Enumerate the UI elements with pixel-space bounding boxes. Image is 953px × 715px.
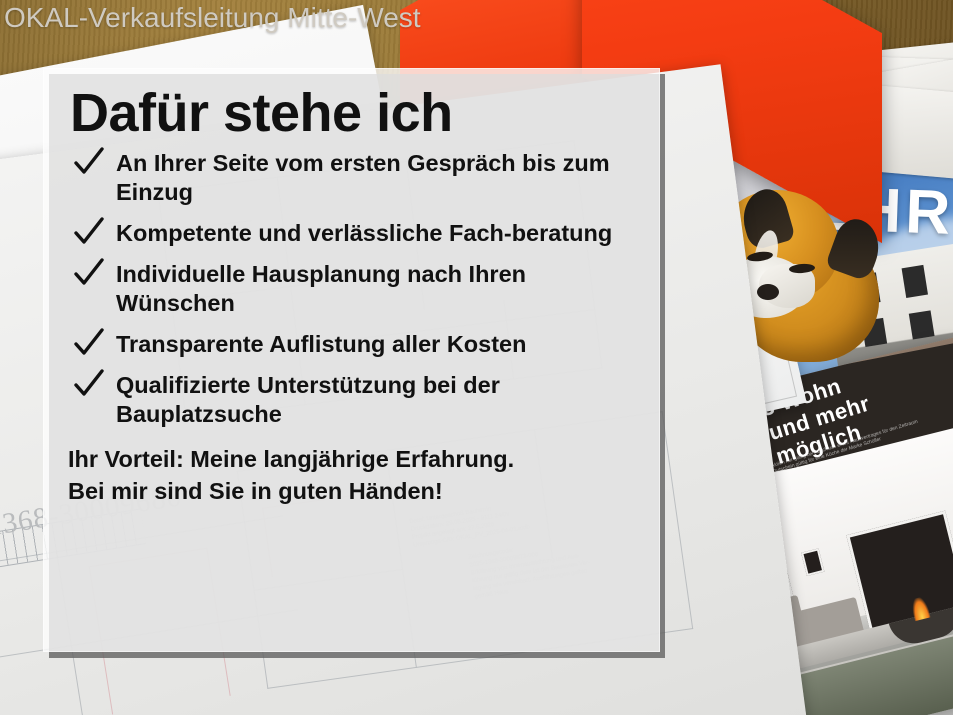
list-item-label: Individuelle Hausplanung nach Ihren Wüns… [116,261,526,316]
panel-headline: Dafür stehe ich [70,83,637,143]
closing-line-1: Ihr Vorteil: Meine langjährige Erfahrung… [68,443,637,475]
benefits-list: An Ihrer Seite vom ersten Gespräch bis z… [58,149,637,429]
list-item-label: Qualifizierte Unterstützung bei der Baup… [116,372,500,427]
list-item: An Ihrer Seite vom ersten Gespräch bis z… [64,149,637,207]
closing-line-2: Bei mir sind Sie in guten Händen! [68,475,637,507]
wall-lamp-icon [801,548,824,576]
list-item-label: An Ihrer Seite vom ersten Gespräch bis z… [116,150,610,205]
list-item: Individuelle Hausplanung nach Ihren Wüns… [64,260,637,318]
check-mark-icon [72,367,106,401]
page-title: OKAL-Verkaufsleitung Mitte-West [4,2,421,34]
list-item: Qualifizierte Unterstützung bei der Baup… [64,371,637,429]
list-item: Kompetente und verlässliche Fach-beratun… [64,219,637,248]
check-mark-icon [72,215,106,249]
fox-nose [757,284,779,300]
check-mark-icon [72,326,106,360]
window-shape [909,310,935,339]
list-item-label: Transparente Auflistung aller Kosten [116,331,526,357]
list-item-label: Kompetente und verlässliche Fach-beratun… [116,220,612,246]
list-item: Transparente Auflistung aller Kosten [64,330,637,359]
check-mark-icon [72,256,106,290]
slide-canvas: OKAL Ausgezeichnete Häuser 15.03. – 31.1… [0,0,953,715]
content-panel: Dafür stehe ich An Ihrer Seite vom erste… [43,68,660,652]
check-mark-icon [72,145,106,179]
closing-statement: Ihr Vorteil: Meine langjährige Erfahrung… [68,443,637,507]
window-shape [902,265,928,298]
